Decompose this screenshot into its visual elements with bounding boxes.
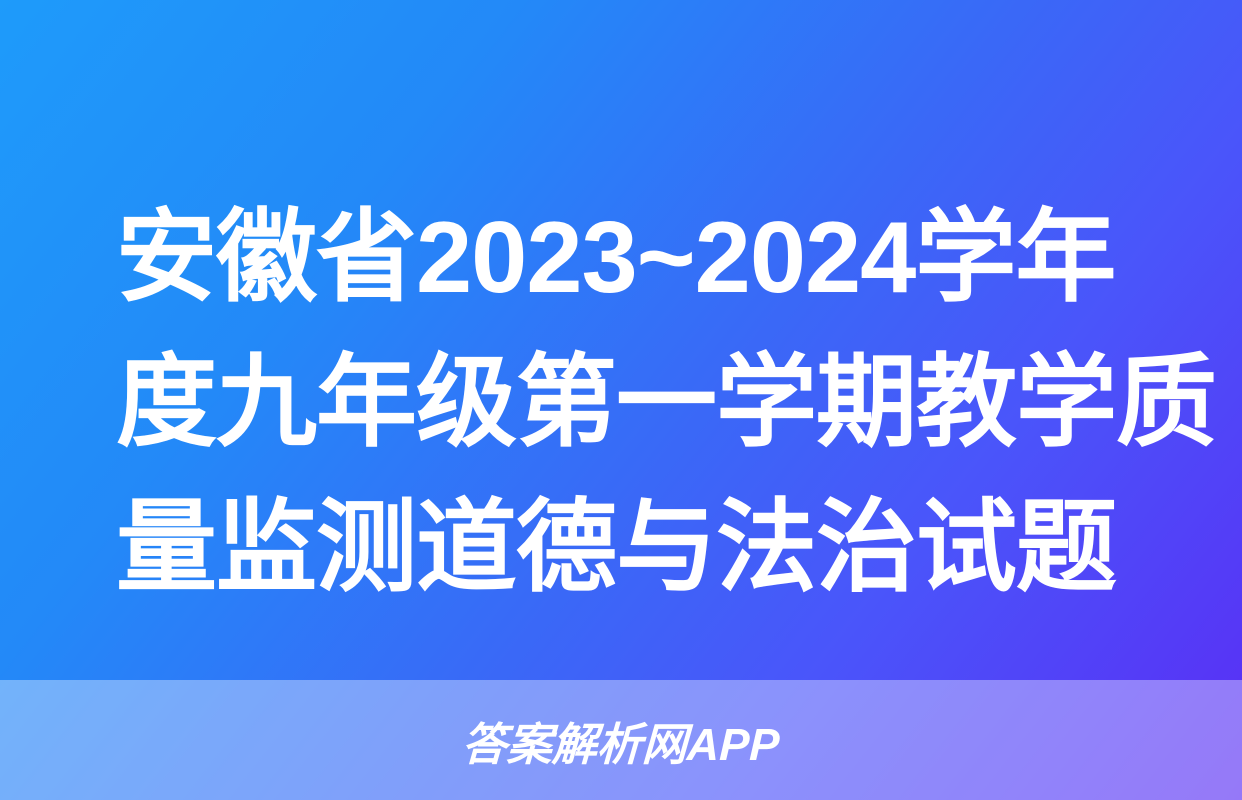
title-line-1: 安徽省2023~2024学年 [116,186,1176,331]
title-line-3: 量监测道德与法治试题 [116,476,1176,621]
page-title: 安徽省2023~2024学年 度九年级第一学期教学质 量监测道德与法治试题 [116,186,1176,621]
footer-band: 答案解析网APP [0,680,1242,800]
title-line-2: 度九年级第一学期教学质 [116,331,1176,476]
exam-title-card: 安徽省2023~2024学年 度九年级第一学期教学质 量监测道德与法治试题 答案… [0,0,1242,800]
app-watermark: 答案解析网APP [461,708,781,773]
